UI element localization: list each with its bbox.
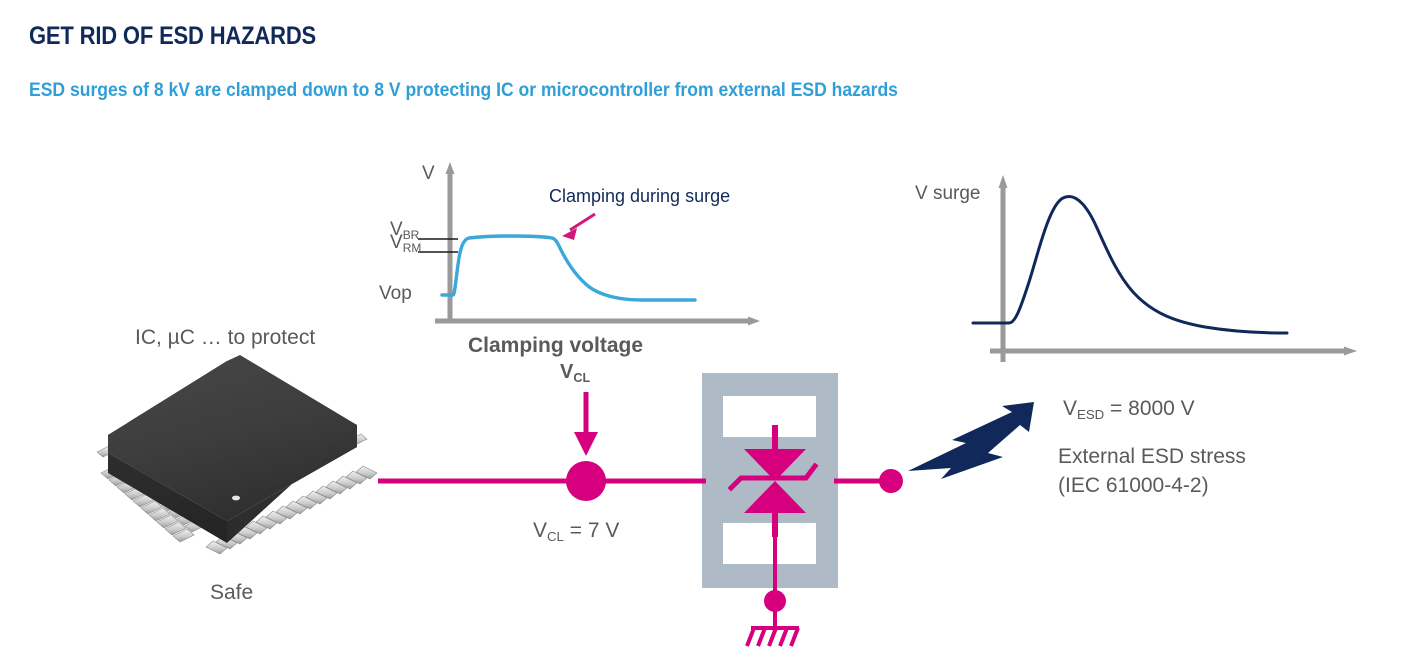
vcl-value-sub: CL (547, 529, 564, 544)
esd-standard-label: (IEC 61000-4-2) (1058, 474, 1209, 498)
vcl-value-rest: = 7 V (564, 519, 619, 542)
tvs-package-window-bottom (723, 523, 816, 564)
esd-stress-label: External ESD stress (1058, 445, 1246, 469)
vesd-value-sub: ESD (1077, 407, 1104, 422)
slide-root: GET RID OF ESD HAZARDS ESD surges of 8 k… (0, 0, 1403, 665)
ic-label: IC, µC … to protect (135, 326, 315, 350)
ground-hatch-icon (747, 628, 798, 646)
esd-node-dot (879, 469, 903, 493)
tvs-package-window-top (723, 396, 816, 437)
clamping-voltage-value: VCL = 7 V (533, 519, 619, 543)
vesd-value-rest: = 8000 V (1104, 397, 1195, 420)
clamping-arrow-head (574, 432, 598, 456)
clamp-node-dot (566, 461, 606, 501)
vesd-value-main: V (1063, 397, 1077, 420)
chip-pin1-marker-icon (232, 496, 240, 501)
ic-status-label: Safe (210, 581, 253, 605)
esd-lightning-bolt-icon (908, 402, 1034, 479)
vcl-value-main: V (533, 519, 547, 542)
esd-voltage-value: VESD = 8000 V (1063, 397, 1195, 421)
ic-chip-graphic (95, 355, 395, 570)
